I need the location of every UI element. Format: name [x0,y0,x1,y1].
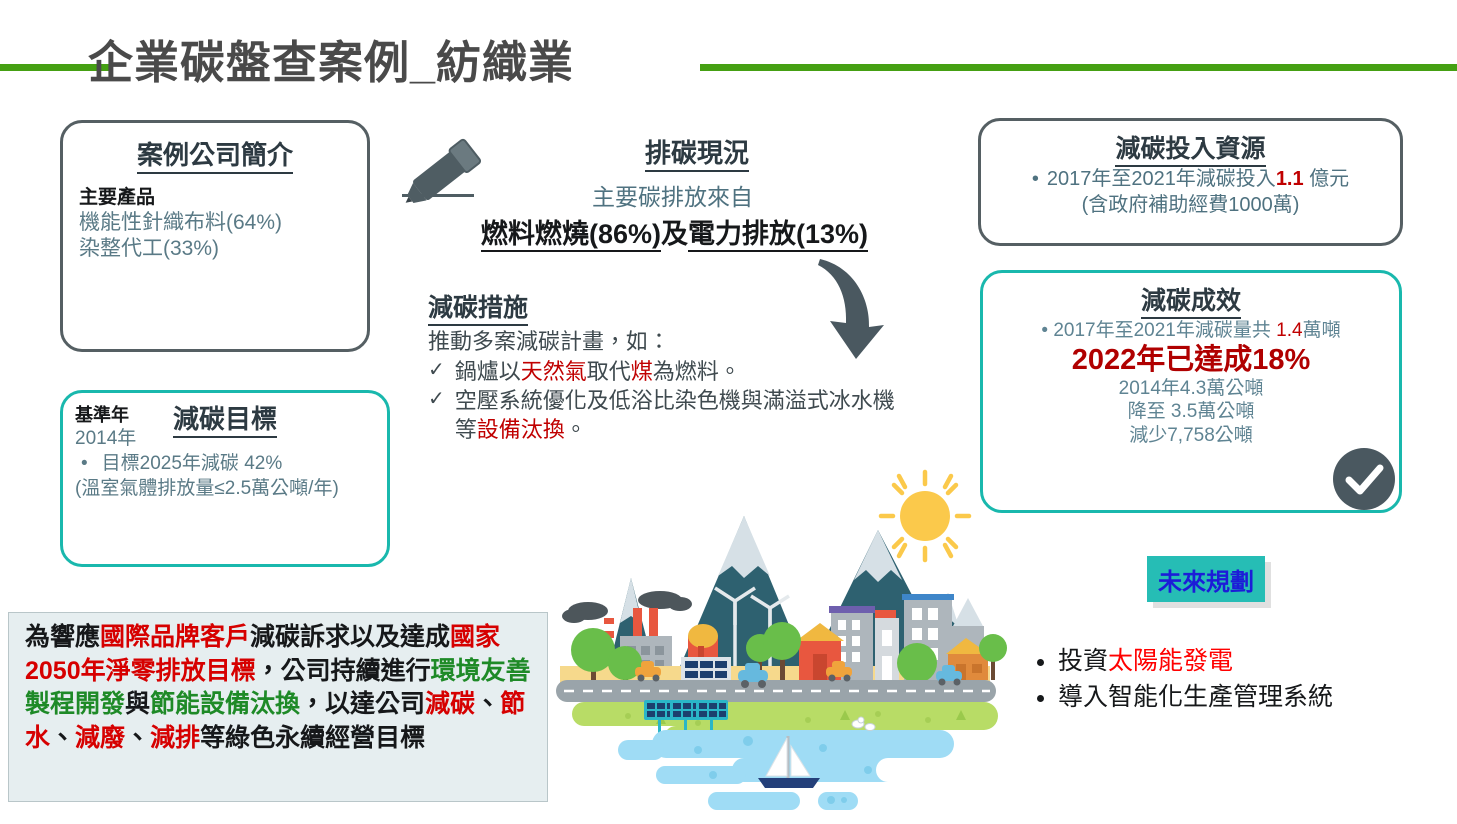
measures-seg-highlight: 煤 [631,359,653,384]
summary-seg: 減碳訴求以及達成 [250,623,450,651]
reduction-target-body: 基準年 2014年 目標2025年減碳 42% (溫室氣體排放量≤2.5萬公噸/… [63,436,387,501]
check-mark-icon: ✓ [428,386,445,444]
reduction-target-title-text: 減碳目標 [173,404,277,438]
invested-resources-body: •2017年至2021年減碳投入1.1 億元 (含政府補助經費1000萬) [981,165,1400,218]
summary-seg: 等綠色永續經營目標 [200,724,425,752]
measures-item-text: 空壓系統優化及低浴比染色機與滿溢式冰水機等設備汰換。 [455,386,898,444]
summary-seg: 、 [50,724,75,752]
check-circle-icon [1333,448,1395,510]
effect-line-1-suffix: 萬噸 [1303,320,1341,341]
summary-statement-box: 為響應國際品牌客戶減碳訴求以及達成國家2050年淨零排放目標，公司持續進行環境友… [8,612,548,802]
measures-seg-highlight: 天然氣 [521,359,587,384]
emission-conjunction: 及 [661,219,688,249]
measures-item-text: 鍋爐以天然氣取代煤為燃料。 [455,357,741,386]
bullet-glyph: • [1041,320,1048,341]
measures-title-text: 減碳措施 [428,294,528,326]
invest-line-1: •2017年至2021年減碳投入1.1 億元 [989,167,1392,193]
summary-seg-green: 節能設備汰換 [150,690,300,718]
measures-lead: 推動多案減碳計畫，如： [428,324,670,356]
future-plan-chip: 未來規劃 [1147,556,1265,602]
curved-down-arrow-icon [812,255,932,365]
effect-line-3: 降至 3.5萬公噸 [991,400,1391,424]
sun-icon [881,472,969,560]
eco-city-illustration [548,458,1018,819]
measures-seg: 。 [565,417,587,442]
future-plan-list: 投資太陽能發電 導入智能化生產管理系統 [1030,644,1450,715]
page-title: 企業碳盤查案例_紡織業 [88,26,574,91]
emissions-sources: 燃料燃燒(86%)及電力排放(13%) [481,212,868,251]
future-item-prefix: 導入智能化生產管理系統 [1058,683,1333,711]
future-plan-chip-label: 未來規劃 [1158,562,1254,597]
invested-resources-title-text: 減碳投入資源 [1115,135,1265,167]
effect-line-4: 減少7,758公噸 [991,424,1391,448]
summary-seg: 、 [475,690,500,718]
company-product-1: 機能性針織布料(64%) [79,210,351,236]
measures-seg: 鍋爐以 [455,359,521,384]
future-item-highlight: 太陽能發電 [1108,647,1233,675]
measures-seg: 取代 [587,359,631,384]
emission-source-fuel: 燃料燃燒(86%) [481,219,661,252]
summary-seg-red: 國際品牌客戶 [100,623,250,651]
effect-highlight: 2022年已達成18% [991,343,1391,377]
measures-seg-highlight: 設備汰換 [477,417,565,442]
effect-line-1-prefix: 2017年至2021年減碳量共 [1053,320,1276,341]
future-plan-item: 投資太陽能發電 [1058,644,1450,680]
measures-list: ✓ 鍋爐以天然氣取代煤為燃料。 ✓ 空壓系統優化及低浴比染色機與滿溢式冰水機等設… [428,357,898,444]
summary-statement-text: 為響應國際品牌客戶減碳訴求以及達成國家2050年淨零排放目標，公司持續進行環境友… [25,621,535,755]
company-profile-box: 案例公司簡介 主要產品 機能性針織布料(64%) 染整代工(33%) [60,120,370,352]
company-products-label: 主要產品 [79,186,351,210]
invest-amount: 1.1 [1276,168,1304,190]
target-note: (溫室氣體排放量≤2.5萬公噸/年) [75,477,377,502]
emissions-status-title: 排碳現況 [645,133,749,170]
summary-seg: 與 [125,690,150,718]
company-profile-title-text: 案例公司簡介 [137,140,293,174]
measures-title: 減碳措施 [428,288,528,324]
invested-resources-box: 減碳投入資源 •2017年至2021年減碳投入1.1 億元 (含政府補助經費10… [978,118,1403,246]
summary-seg: 為響應 [25,623,100,651]
future-plan-item: 導入智能化生產管理系統 [1058,680,1450,716]
road [556,680,996,702]
company-profile-body: 主要產品 機能性針織布料(64%) 染整代工(33%) [63,172,367,263]
effect-amount: 1.4 [1276,320,1302,341]
reduction-effect-title: 減碳成效 [983,281,1399,317]
measures-seg: 為燃料。 [653,359,741,384]
invest-line-1-prefix: 2017年至2021年減碳投入 [1047,168,1276,190]
invest-line-2: (含政府補助經費1000萬) [989,193,1392,219]
rooftop-solar-panel [681,657,731,681]
marker-pen-icon [398,132,498,212]
future-item-prefix: 投資 [1058,647,1108,675]
title-rule-right [700,64,1457,71]
summary-seg: 、 [125,724,150,752]
target-bullet: 目標2025年減碳 42% [75,452,377,477]
company-profile-title: 案例公司簡介 [63,135,367,172]
bullet-glyph: • [1032,168,1039,190]
measures-item: ✓ 空壓系統優化及低浴比染色機與滿溢式冰水機等設備汰換。 [428,386,898,444]
invest-line-1-suffix: 億元 [1304,168,1350,190]
invested-resources-title: 減碳投入資源 [981,129,1400,165]
summary-seg: ，以達公司 [300,690,425,718]
reduction-effect-body: • 2017年至2021年減碳量共 1.4萬噸 2022年已達成18% 2014… [983,317,1399,447]
emissions-subtitle: 主要碳排放來自 [592,178,753,212]
summary-seg-red: 減廢 [75,724,125,752]
summary-seg: ，公司持續進行 [256,657,431,685]
summary-seg-red: 減排 [150,724,200,752]
check-mark-icon: ✓ [428,357,445,386]
effect-line-1: • 2017年至2021年減碳量共 1.4萬噸 [991,319,1391,343]
emissions-status-title-text: 排碳現況 [645,138,749,172]
effect-line-2: 2014年4.3萬公噸 [991,377,1391,401]
reduction-target-box: 減碳目標 基準年 2014年 目標2025年減碳 42% (溫室氣體排放量≤2.… [60,390,390,567]
company-product-2: 染整代工(33%) [79,236,351,262]
emission-source-electricity: 電力排放(13%) [688,219,868,252]
measures-item: ✓ 鍋爐以天然氣取代煤為燃料。 [428,357,898,386]
reduction-effect-title-text: 減碳成效 [1141,287,1241,319]
summary-seg-red: 減碳 [425,690,475,718]
